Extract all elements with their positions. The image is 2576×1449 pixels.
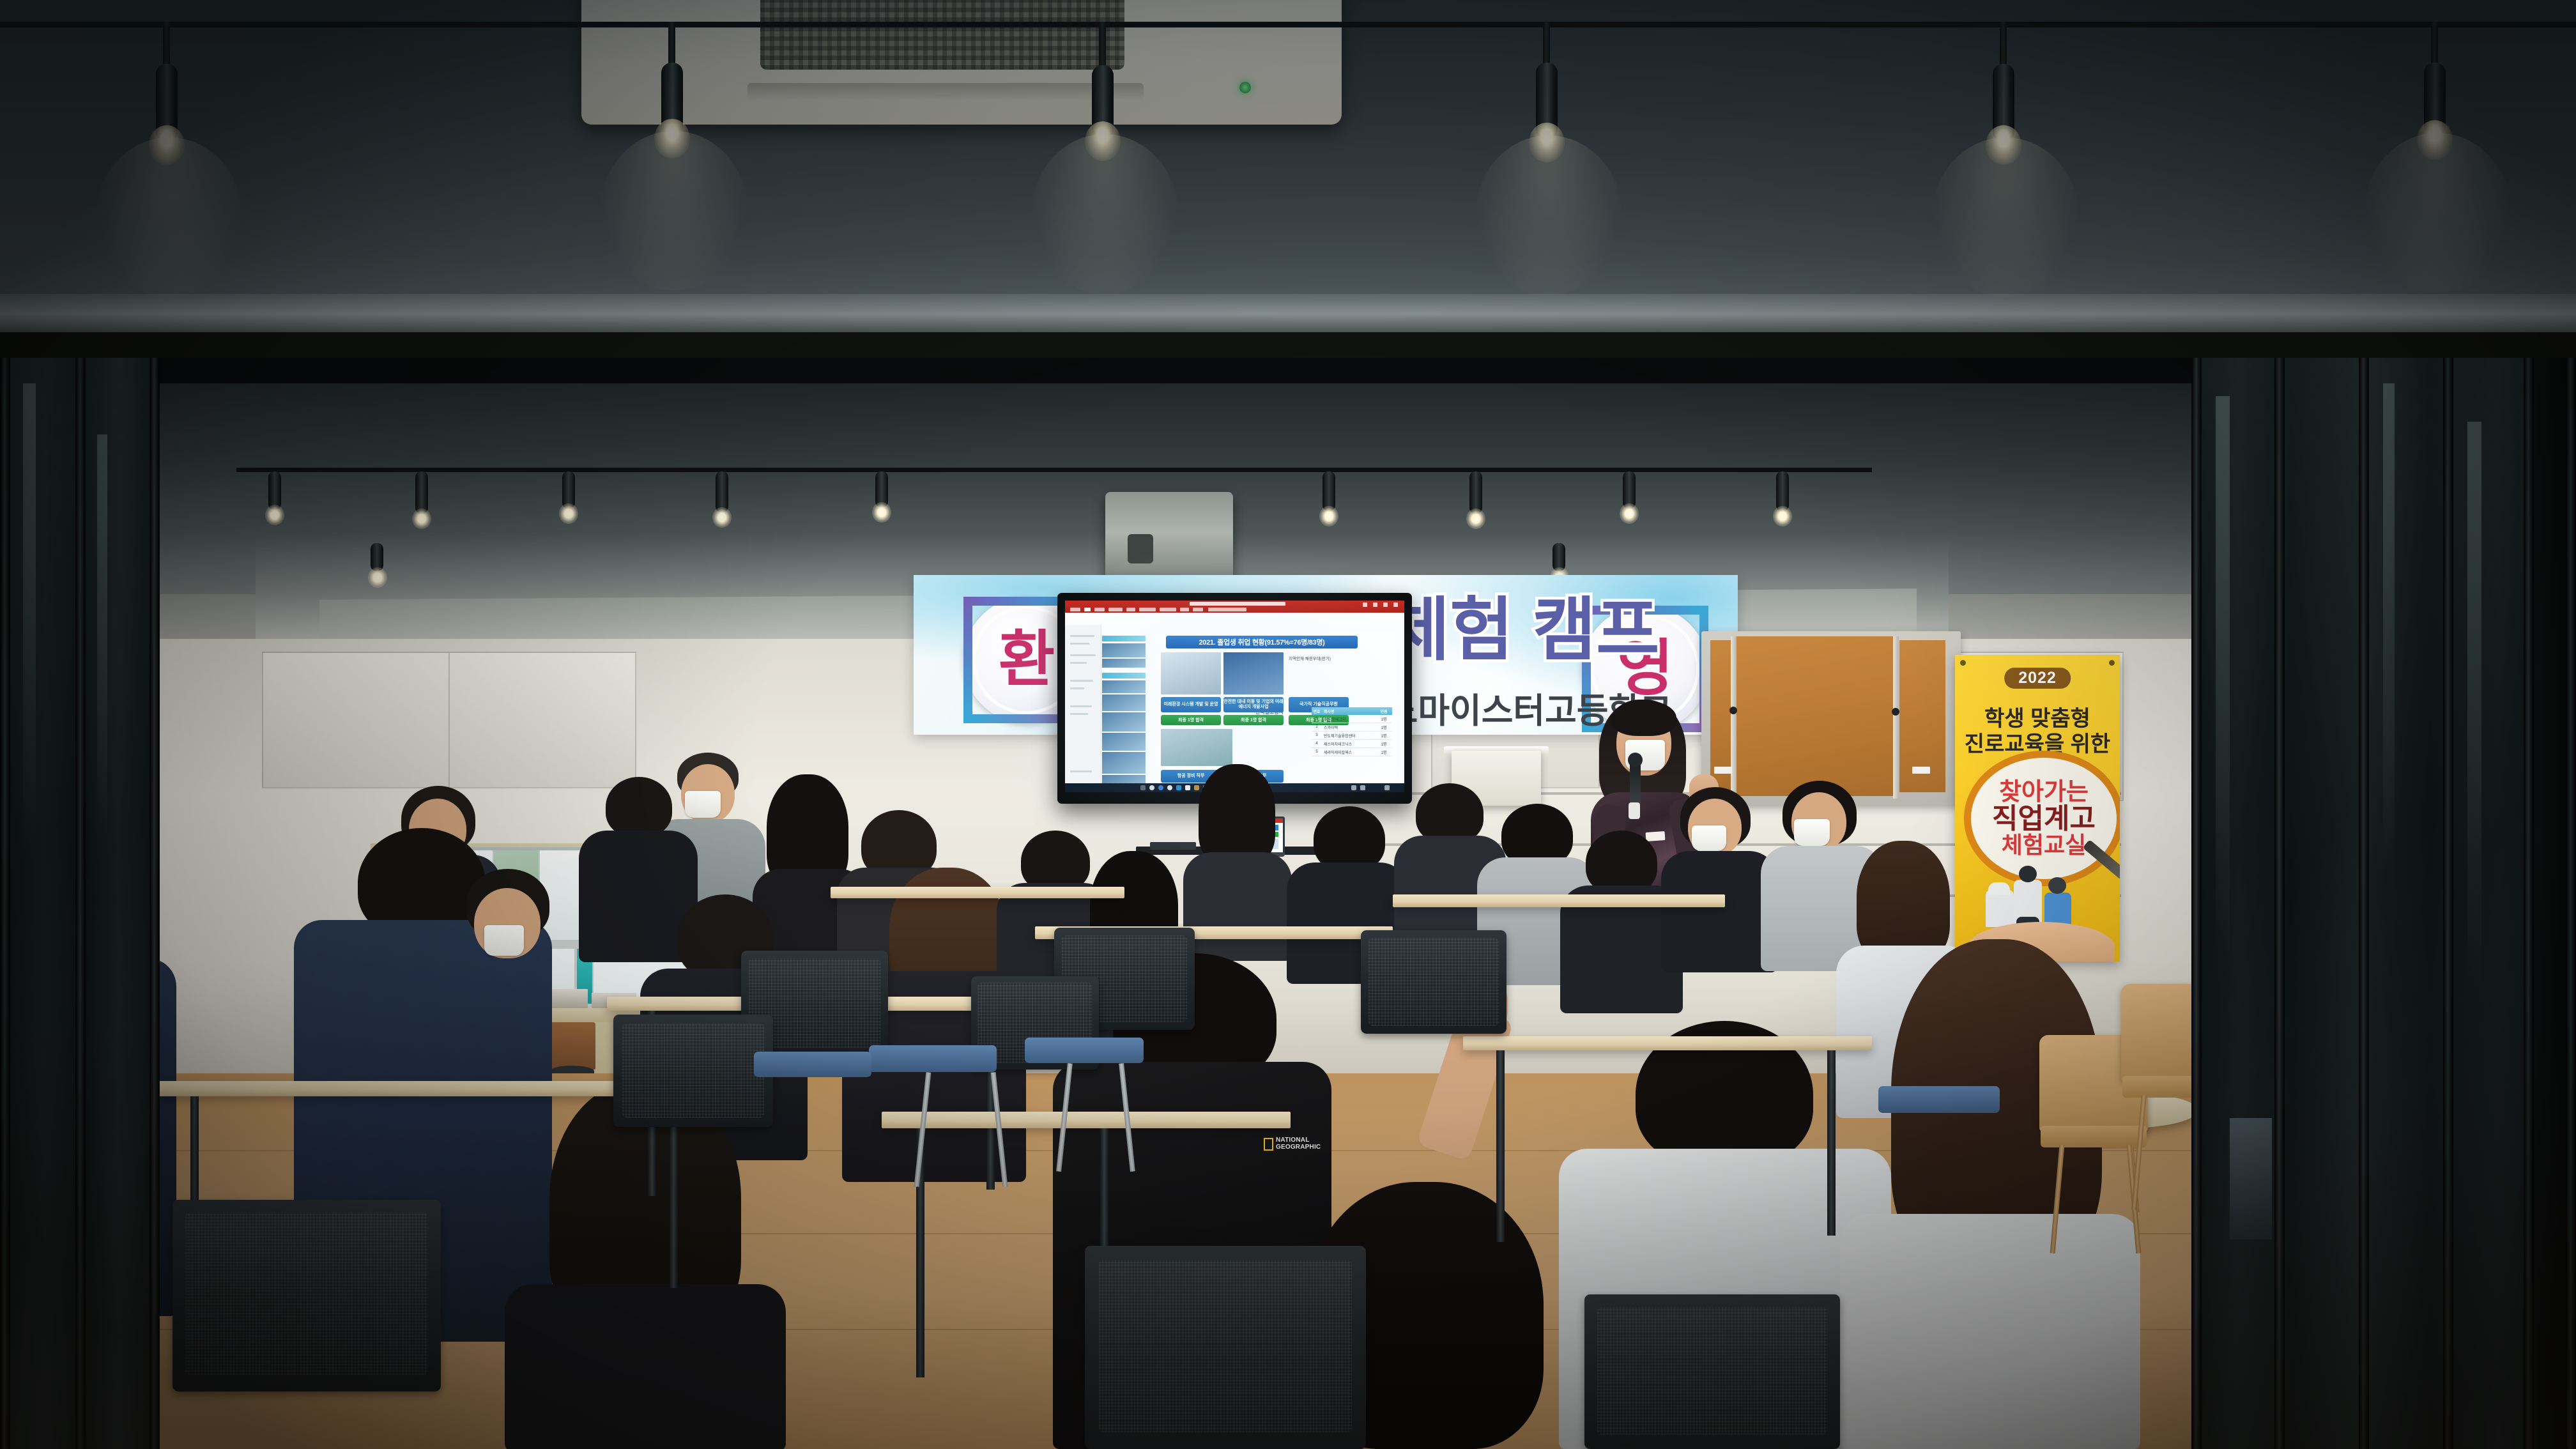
powerpoint-ribbon <box>1065 601 1404 613</box>
face-mask <box>685 791 721 818</box>
table-row: 4제스와치테크닉스1명 <box>1312 740 1392 748</box>
microphone-grip <box>1629 802 1640 819</box>
ng-line-2: GEOGRAPHIC <box>1276 1144 1321 1151</box>
ng-yellow-rect-icon <box>1264 1138 1273 1151</box>
slide-title-text: 2021. 졸업생 취업 현황(91.57%=76명/83명) <box>1199 637 1324 647</box>
ac-vent-slot <box>747 83 1144 101</box>
banner-main-text: 체험 캠프 <box>1386 595 1659 664</box>
banner-circle-line-3: 체험교실 <box>2002 834 2086 857</box>
chair-seat[interactable] <box>1878 1086 2000 1113</box>
banner-figure-left <box>1986 890 2014 927</box>
chair-seat[interactable] <box>1025 1038 1144 1063</box>
banner-year: 2022 <box>2004 668 2071 689</box>
slide-title-banner: 2021. 졸업생 취업 현황(91.57%=76명/83명) <box>1166 636 1358 648</box>
board-slide-rail <box>1731 636 1736 799</box>
chair-seat[interactable] <box>754 1052 871 1077</box>
ac-status-led-icon <box>1239 82 1251 93</box>
folding-partition-left[interactable] <box>0 358 160 1449</box>
desk-leg <box>1496 1050 1505 1242</box>
slide-blue-box-1: 미래환경 시스템 개발 및 운영 <box>1161 697 1221 712</box>
folding-partition-right[interactable] <box>2191 358 2576 1449</box>
board-knob[interactable] <box>1729 707 1737 714</box>
ac-grill-icon <box>760 0 1124 70</box>
wall-cabinet <box>262 652 450 788</box>
student-desk <box>1463 1036 1872 1050</box>
ribbon-title-bar <box>1190 602 1285 606</box>
banner-figure-left-hat-icon <box>1988 882 2010 895</box>
projector-lens-icon <box>1128 534 1153 563</box>
table-row: 1수원 한테크디1명 <box>1312 715 1392 723</box>
slide-green-box-2: 최종 1명 합격 <box>1223 715 1284 725</box>
reflected-signage <box>2230 1118 2272 1239</box>
keyboard[interactable] <box>1150 842 1196 850</box>
office-chair-back[interactable] <box>1085 1246 1366 1449</box>
active-slide: 2021. 졸업생 취업 현황(91.57%=76명/83명) 지역인재 채용우… <box>1154 632 1396 792</box>
air-conditioner-cassette <box>581 0 1342 125</box>
office-chair-back[interactable] <box>1361 930 1506 1034</box>
table-row: 2스카이텍1명 <box>1312 723 1392 732</box>
slide-caption-right: 지역인재 채용우대(전기) <box>1289 655 1384 661</box>
desk-leg <box>1827 1050 1836 1236</box>
slide-green-box-1: 최종 1명 합격 <box>1161 715 1221 725</box>
board-label-tag <box>1714 767 1732 774</box>
slide-photo <box>1161 652 1221 694</box>
book-stack <box>548 989 588 1008</box>
face-mask <box>484 925 524 956</box>
photo-scene: 환 영 2 기 체험 캠프 나노마이스터고등학교 2022 학생 맞춤형 진로교… <box>0 0 2576 1449</box>
slide-thumbnail-column[interactable] <box>1102 636 1146 792</box>
chair-seat[interactable] <box>869 1045 997 1072</box>
banner-circle-line-1: 찾아가는 <box>1999 780 2089 804</box>
slide-data-table: 번호 회사명 인원 1수원 한테크디1명 2스카이텍1명 3반도체기술융합센터1… <box>1312 707 1392 756</box>
board-knob[interactable] <box>1892 708 1899 716</box>
table-row: 3반도체기술융합센터1명 <box>1312 732 1392 740</box>
slide-navigation-rail[interactable] <box>1065 625 1101 792</box>
seal-left-char: 환 <box>999 629 1055 691</box>
banner-figure-head <box>2019 866 2037 882</box>
student-desk <box>882 1112 1291 1128</box>
career-program-banner: 2022 학생 맞춤형 진로교육을 위한 찾아가는 직업계고 체험교실 <box>1955 655 2120 962</box>
microphone <box>1630 760 1641 808</box>
banner-pin-icon <box>2109 660 2115 666</box>
microphone-head <box>1628 753 1643 767</box>
slide-photo <box>1161 729 1232 766</box>
table-row: 5세라믹케미칼웍스1명 <box>1312 748 1392 756</box>
door-lintel <box>0 358 2576 386</box>
cork-panel-center <box>1735 636 1894 796</box>
office-chair-back[interactable] <box>1584 1294 1840 1449</box>
office-chair-back[interactable] <box>613 1015 773 1127</box>
student-desk <box>1393 894 1725 907</box>
banner-pin-icon <box>1960 660 1966 666</box>
face-mask <box>1692 825 1726 851</box>
powerpoint-workspace: 2021. 졸업생 취업 현황(91.57%=76명/83명) 지역인재 채용우… <box>1065 613 1404 782</box>
student-desk <box>831 887 1124 898</box>
slide-photo <box>1223 652 1284 694</box>
presenter-name-tag <box>1646 831 1666 841</box>
national-geographic-logo: NATIONAL GEOGRAPHIC <box>1264 1137 1321 1151</box>
table-header-row: 번호 회사명 인원 <box>1312 707 1392 715</box>
display-screen[interactable]: 2021. 졸업생 취업 현황(91.57%=76명/83명) 지역인재 채용우… <box>1065 601 1404 792</box>
office-chair-back[interactable] <box>172 1200 441 1391</box>
banner-figure-right-head <box>2048 877 2066 894</box>
ng-line-1: NATIONAL <box>1276 1137 1321 1144</box>
bulletin-board <box>1701 631 1961 805</box>
face-mask <box>1794 819 1830 846</box>
ceiling-track-rail <box>0 22 2576 27</box>
wall-cabinet <box>448 652 636 788</box>
slide-korail-label: 한국철도공사 <box>1239 709 1300 716</box>
board-label-tag <box>1912 767 1930 774</box>
board-slide-rail <box>1893 636 1899 799</box>
banner-circle-line-2: 직업계고 <box>1992 805 2096 833</box>
banner-magnifier-circle: 찾아가는 직업계고 체험교실 <box>1964 751 2120 886</box>
